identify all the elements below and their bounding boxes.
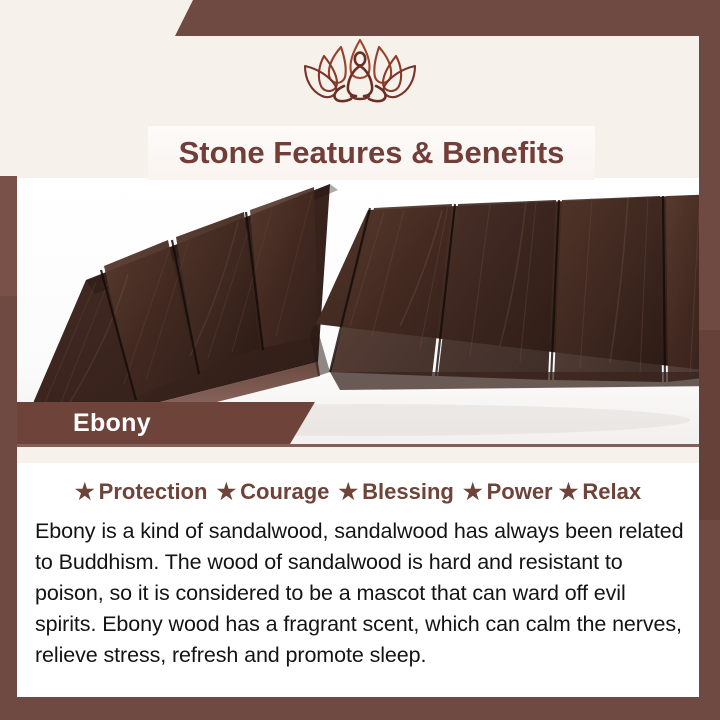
- benefit-label: Blessing: [362, 481, 454, 503]
- product-label-banner: [17, 402, 315, 444]
- product-description: Ebony is a kind of sandalwood, sandalwoo…: [35, 516, 690, 671]
- lotus-meditation-icon: [285, 34, 435, 106]
- page-title: Stone Features & Benefits: [148, 130, 595, 176]
- benefit-label: Protection: [99, 481, 208, 503]
- benefit-item: ★ Power: [463, 481, 553, 503]
- star-icon: ★: [463, 481, 483, 503]
- product-label: Ebony: [73, 404, 151, 442]
- star-icon: ★: [338, 481, 358, 503]
- benefit-item: ★ Protection: [75, 481, 208, 503]
- infographic-card: BUDDHA STONES Stone Features & Benefits …: [0, 0, 720, 720]
- star-icon: ★: [216, 481, 236, 503]
- benefit-label: Power: [487, 481, 553, 503]
- benefit-label: Courage: [240, 481, 329, 503]
- panel-top-divider: [17, 444, 699, 447]
- star-icon: ★: [559, 481, 579, 503]
- benefit-label: Relax: [582, 481, 641, 503]
- frame-left-accent: [0, 176, 17, 296]
- panel-top-tint: [17, 447, 699, 463]
- benefits-list: ★ Protection ★ Courage ★ Blessing ★ Powe…: [17, 474, 699, 510]
- benefit-item: ★ Relax: [559, 481, 641, 503]
- frame-right-accent: [699, 330, 720, 520]
- star-icon: ★: [75, 481, 95, 503]
- frame-bottom-band: [0, 697, 720, 720]
- brand-logo: BUDDHA STONES: [0, 22, 720, 118]
- benefit-item: ★ Blessing: [338, 481, 453, 503]
- benefit-item: ★ Courage: [216, 481, 329, 503]
